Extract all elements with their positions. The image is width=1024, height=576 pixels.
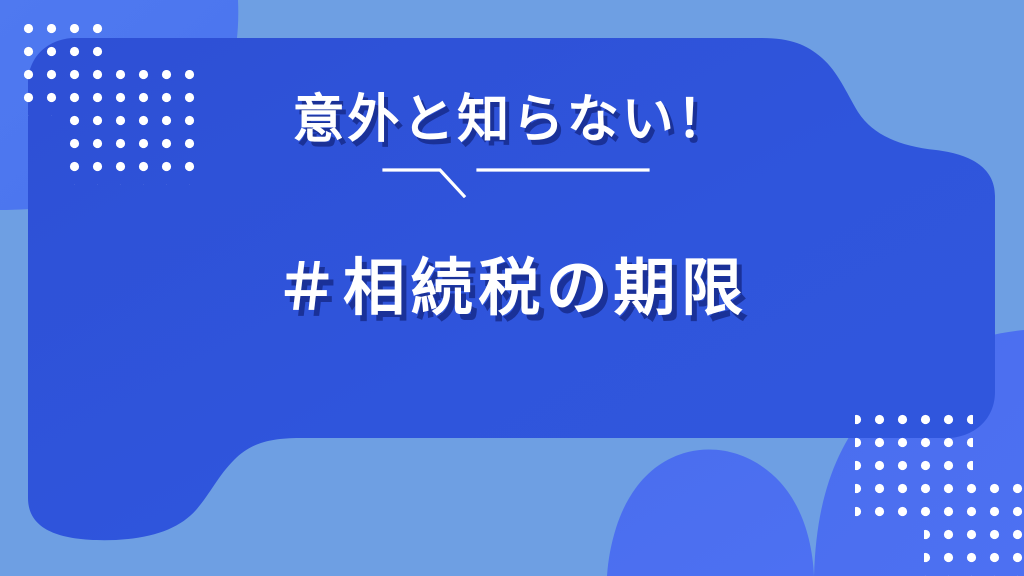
- headline-text: ＃相続税の期限: [0, 250, 1024, 326]
- slide-canvas: 意外と知らない！ ＃相続税の期限: [0, 0, 1024, 576]
- angled-rule-divider: [382, 162, 650, 198]
- eyebrow-text: 意外と知らない！: [0, 88, 1024, 152]
